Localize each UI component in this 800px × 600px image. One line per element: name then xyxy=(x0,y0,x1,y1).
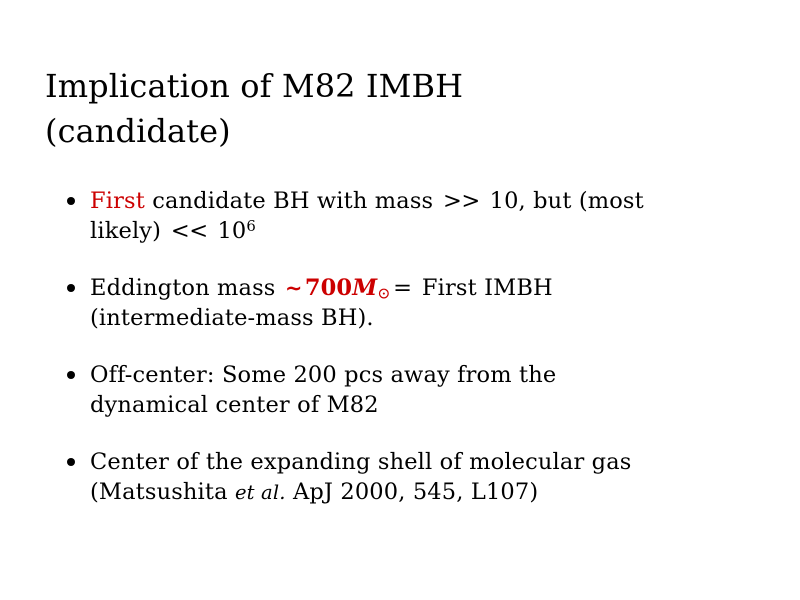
bullet-item-1-text: First candidate BH with mass >> 10, but … xyxy=(90,186,763,246)
bullet-item-4-text: Center of the expanding shell of molecul… xyxy=(90,447,763,508)
bullet-4-et-al: et al. xyxy=(235,481,286,504)
bullet-item-2: Eddington mass ∼700M⊙= First IMBH(interm… xyxy=(63,273,763,333)
bullet-4-citation-pre: (Matsushita xyxy=(90,479,235,505)
bullet-1-line2-base: 10 xyxy=(210,218,246,244)
bullet-disc-icon xyxy=(67,197,75,205)
bullet-2-mass-value: 700 xyxy=(305,275,352,301)
bullet-1-line2-pre: likely) xyxy=(90,218,168,244)
bullet-2-line1-pre: Eddington mass xyxy=(90,275,283,301)
sun-symbol-icon: ⊙ xyxy=(377,283,390,302)
bullet-1-line1-rest: candidate BH with mass xyxy=(145,188,441,214)
bullet-2-line2: (intermediate-mass BH). xyxy=(90,303,763,333)
bullet-3-line1: Off-center: Some 200 pcs away from the xyxy=(90,362,556,388)
bullet-item-3: Off-center: Some 200 pcs away from thedy… xyxy=(63,360,763,420)
slide-title: Implication of M82 IMBH (candidate) xyxy=(45,64,745,154)
bullet-disc-icon xyxy=(67,458,75,466)
bullet-item-4: Center of the expanding shell of molecul… xyxy=(63,447,763,508)
bullet-2-mass-symbol: M xyxy=(352,275,377,301)
bullet-disc-icon xyxy=(67,371,75,379)
bullet-item-3-text: Off-center: Some 200 pcs away from thedy… xyxy=(90,360,763,420)
bullet-2-line1-post: First IMBH xyxy=(415,275,553,301)
bullet-2-equals-sign: = xyxy=(391,275,415,301)
bullet-item-2-text: Eddington mass ∼700M⊙= First IMBH(interm… xyxy=(90,273,763,333)
bullet-1-after-rel: 10, but (most xyxy=(482,188,644,214)
bullet-list: First candidate BH with mass >> 10, but … xyxy=(63,186,763,508)
bullet-1-much-greater-than: >> xyxy=(441,188,483,214)
bullet-2-tilde-operator: ∼ xyxy=(283,276,305,300)
bullet-4-citation-post: ApJ 2000, 545, L107) xyxy=(286,479,539,505)
bullet-1-highlight: First xyxy=(90,188,145,214)
bullet-4-line1: Center of the expanding shell of molecul… xyxy=(90,449,631,475)
bullet-item-1: First candidate BH with mass >> 10, but … xyxy=(63,186,763,246)
bullet-1-much-less-than: << xyxy=(168,218,210,244)
presentation-slide: Implication of M82 IMBH (candidate) Firs… xyxy=(0,0,800,600)
bullet-1-exponent: 6 xyxy=(246,217,256,235)
bullet-disc-icon xyxy=(67,284,75,292)
bullet-3-line2: dynamical center of M82 xyxy=(90,390,763,420)
